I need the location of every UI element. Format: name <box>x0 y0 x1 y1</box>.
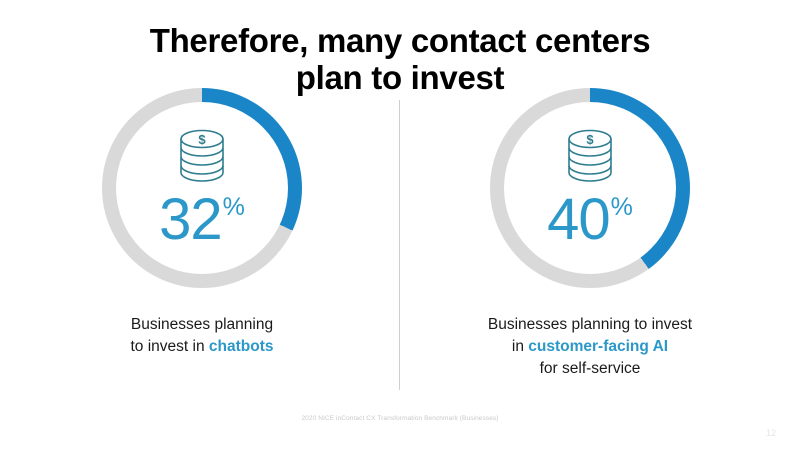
page-title: Therefore, many contact centers plan to … <box>60 22 740 97</box>
caption-highlight: customer-facing AI <box>528 338 668 355</box>
caption-line: for self-service <box>410 358 770 380</box>
caption-line: in customer-facing AI <box>410 336 770 358</box>
donut-chart-chatbots: $ 32 % <box>102 88 302 288</box>
svg-text:$: $ <box>198 132 206 147</box>
vertical-divider <box>399 100 400 390</box>
caption-text: Businesses planning to invest <box>488 316 692 333</box>
donut-chart-customer-facing-ai: $ 40 % <box>490 88 690 288</box>
percentage-value: 32 % <box>159 191 245 249</box>
coin-stack-icon: $ <box>175 128 229 189</box>
coin-stack-icon: $ <box>563 128 617 189</box>
caption-text: in <box>512 338 528 355</box>
metric-panel-chatbots: $ 32 % Businesses planning to invest <box>22 88 382 398</box>
caption-line: to invest in chatbots <box>22 336 382 358</box>
svg-text:$: $ <box>586 132 594 147</box>
percentage-sign: % <box>223 195 245 220</box>
metric-panel-customer-facing-ai: $ 40 % Businesses planning to invest <box>410 88 770 398</box>
slide-canvas: Therefore, many contact centers plan to … <box>0 0 800 450</box>
percentage-number: 32 <box>159 191 222 249</box>
percentage-number: 40 <box>547 191 610 249</box>
caption-text: for self-service <box>540 360 641 377</box>
page-number: 12 <box>766 428 776 438</box>
caption-highlight: chatbots <box>209 338 274 355</box>
percentage-sign: % <box>611 195 633 220</box>
panel-caption: Businesses planning to invest in chatbot… <box>22 314 382 358</box>
caption-text: Businesses planning <box>131 316 273 333</box>
caption-line: Businesses planning to invest <box>410 314 770 336</box>
source-footnote: 2020 NICE inContact CX Transformation Be… <box>0 415 800 422</box>
caption-line: Businesses planning <box>22 314 382 336</box>
title-line-1: Therefore, many contact centers <box>60 22 740 59</box>
caption-text: to invest in <box>131 338 209 355</box>
percentage-value: 40 % <box>547 191 633 249</box>
donut-center-content: $ 32 % <box>102 88 302 288</box>
panel-caption: Businesses planning to invest in custome… <box>410 314 770 380</box>
donut-center-content: $ 40 % <box>490 88 690 288</box>
